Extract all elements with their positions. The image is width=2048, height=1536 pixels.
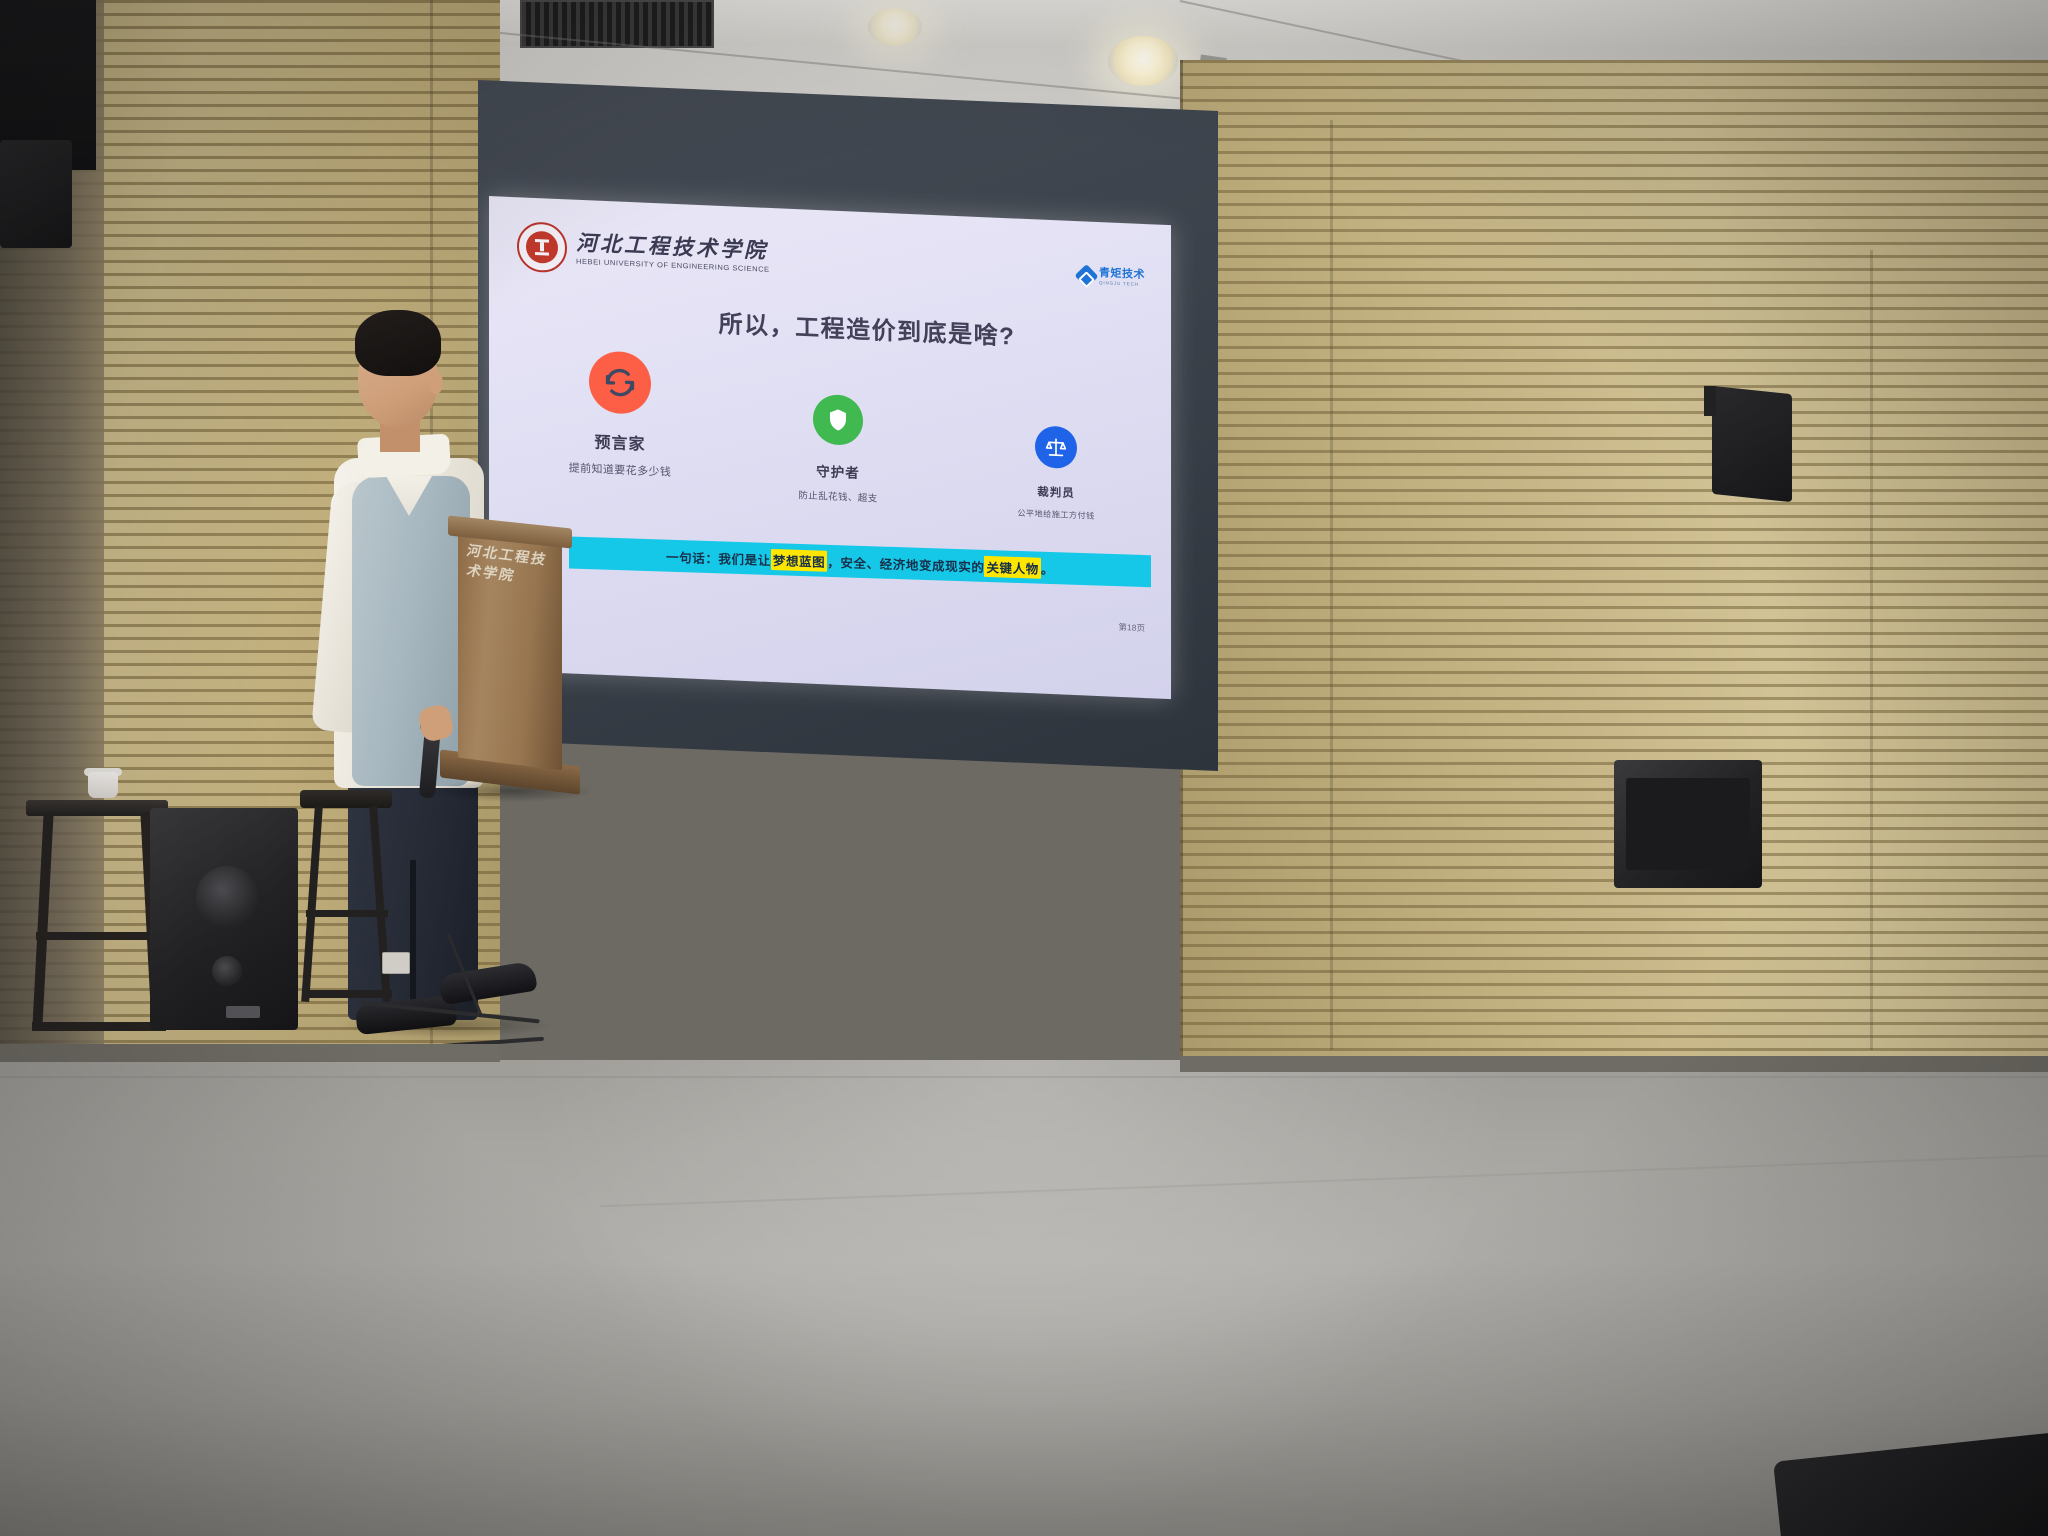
speaker-bracket bbox=[1704, 386, 1716, 416]
floor-joint-line bbox=[0, 1076, 2048, 1078]
banner-part: 。 bbox=[1041, 558, 1054, 577]
banner-part: ，安全、经济地变成现实的 bbox=[827, 551, 984, 575]
paper-cup bbox=[88, 772, 118, 798]
table-stretcher bbox=[36, 932, 160, 940]
speaker-tweeter-icon bbox=[212, 956, 242, 986]
stool-footrest bbox=[302, 990, 392, 998]
university-seal-icon bbox=[517, 221, 567, 273]
banner-highlight: 梦想蓝图 bbox=[771, 548, 827, 571]
wall-mounted-speaker bbox=[1712, 386, 1792, 502]
presenter-hair bbox=[355, 310, 441, 376]
shield-icon bbox=[813, 394, 863, 446]
bar-stool bbox=[300, 790, 392, 1020]
baseboard bbox=[0, 1044, 500, 1062]
projected-slide: 河北工程技术学院 HEBEI UNIVERSITY OF ENGINEERING… bbox=[489, 196, 1171, 699]
wall-outlet bbox=[382, 952, 410, 974]
stool-leg bbox=[301, 806, 323, 1002]
banner-highlight: 关键人物 bbox=[984, 555, 1040, 578]
table-stretcher bbox=[32, 1022, 166, 1031]
partner-logo: 青矩技术 QINGJU TECH bbox=[1078, 267, 1145, 287]
podium-nameplate: 河北工程技术学院 bbox=[466, 547, 552, 584]
banner-part: 一句话：我们是让 bbox=[666, 546, 771, 568]
table-leg bbox=[32, 814, 53, 1026]
lecture-hall-photo: 河北工程技术学院 HEBEI UNIVERSITY OF ENGINEERING… bbox=[0, 0, 2048, 1536]
wall-right-slats bbox=[1180, 60, 2048, 1080]
card-subtitle: 提前知道要花多少钱 bbox=[569, 459, 672, 479]
concept-card: 守护者 防止乱花钱、超支 bbox=[763, 392, 913, 506]
slide-title: 所以，工程造价到底是啥? bbox=[489, 294, 1171, 358]
lectern-podium: 河北工程技术学院 bbox=[448, 522, 572, 834]
stool-footrest bbox=[306, 910, 388, 917]
presenter-ear bbox=[429, 372, 443, 394]
refresh-cycle-icon bbox=[589, 350, 651, 415]
ceiling-vent-icon bbox=[520, 0, 714, 48]
speaker-grille bbox=[1626, 778, 1750, 870]
stool-seat bbox=[300, 790, 392, 808]
ceiling-downlight-icon bbox=[1108, 36, 1178, 86]
summary-banner: 一句话：我们是让梦想蓝图，安全、经济地变成现实的关键人物。 bbox=[569, 536, 1151, 587]
diamond-logo-icon bbox=[1074, 264, 1098, 288]
speaker-badge bbox=[226, 1006, 260, 1018]
wall-seam bbox=[1870, 250, 1873, 1050]
floor-reflection bbox=[520, 1060, 1520, 1536]
baseboard bbox=[1180, 1056, 2048, 1072]
card-title: 预言家 bbox=[594, 429, 645, 455]
speaker-cone-icon bbox=[196, 866, 258, 928]
card-subtitle: 防止乱花钱、超支 bbox=[798, 487, 877, 504]
partner-name-en: QINGJU TECH bbox=[1099, 281, 1145, 288]
concept-card: 裁判员 公平地给施工方付钱 bbox=[981, 423, 1131, 523]
page-number: 第18页 bbox=[1119, 621, 1145, 634]
card-title: 守护者 bbox=[816, 460, 860, 482]
wall-mounted-speaker bbox=[0, 140, 72, 248]
card-title: 裁判员 bbox=[1037, 483, 1075, 501]
card-subtitle: 公平地给施工方付钱 bbox=[1017, 507, 1094, 522]
presenter-leg-split bbox=[410, 860, 416, 1020]
ceiling-downlight-icon bbox=[868, 8, 922, 46]
side-table bbox=[26, 800, 168, 1044]
concept-cards: 预言家 提前知道要花多少钱 守护者 防止乱花钱、超支 bbox=[545, 348, 1131, 523]
partner-name-cn: 青矩技术 bbox=[1099, 268, 1145, 281]
wall-seam bbox=[1330, 120, 1333, 1050]
balance-scales-icon bbox=[1035, 425, 1077, 469]
university-logo: 河北工程技术学院 HEBEI UNIVERSITY OF ENGINEERING… bbox=[517, 221, 770, 282]
